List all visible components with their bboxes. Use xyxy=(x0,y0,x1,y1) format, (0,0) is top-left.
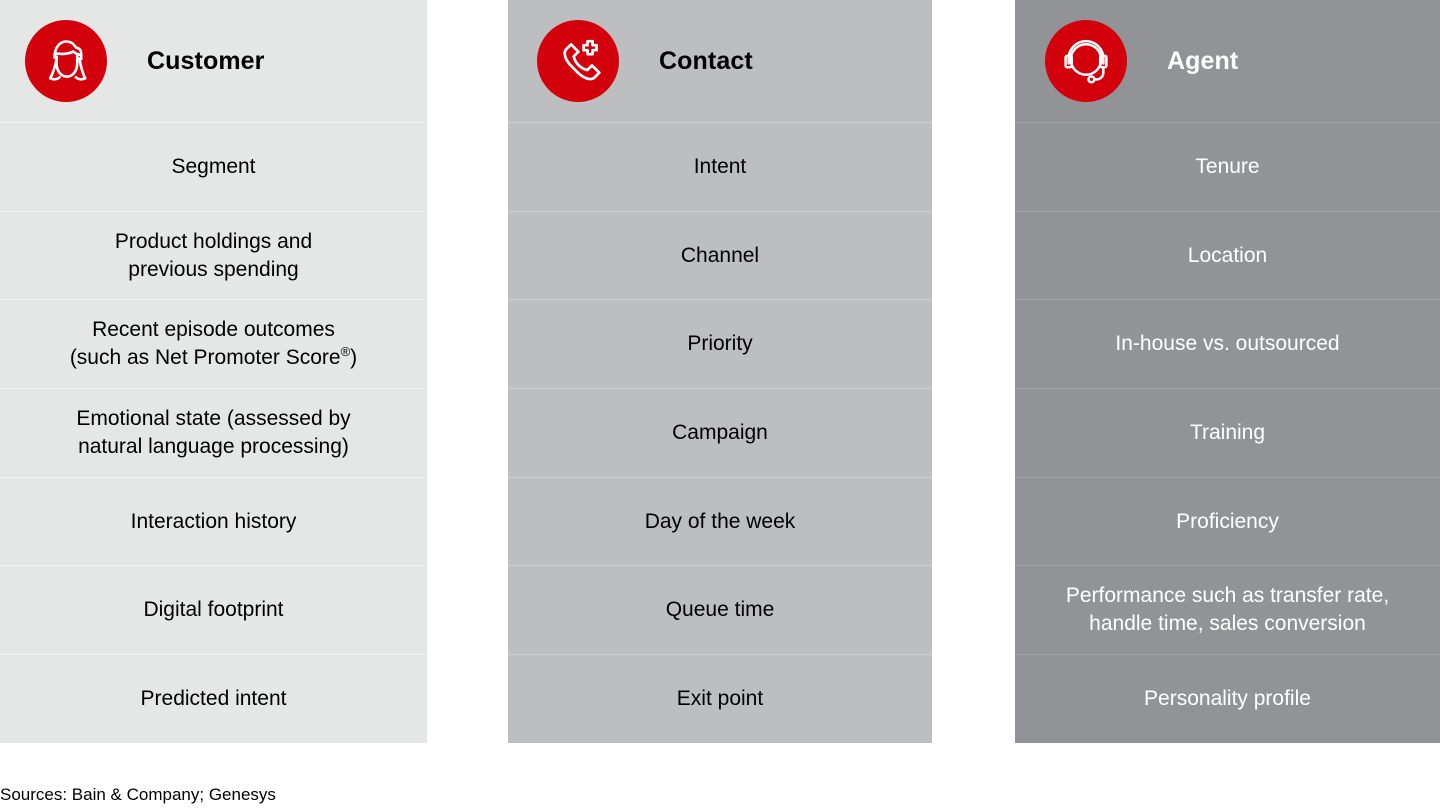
headset-icon xyxy=(1045,20,1127,102)
source-note: Sources: Bain & Company; Genesys xyxy=(0,785,276,805)
row-customer-6: Predicted intent xyxy=(0,654,427,743)
row-agent-6: Personality profile xyxy=(1015,654,1440,743)
row-label: Proficiency xyxy=(1176,508,1279,536)
column-contact: Contact Intent Channel Priority Campaign… xyxy=(508,0,932,743)
column-header-contact: Contact xyxy=(508,0,932,122)
row-label: Location xyxy=(1188,242,1267,270)
row-customer-5: Digital footprint xyxy=(0,565,427,654)
infographic-board: Customer Segment Product holdings andpre… xyxy=(0,0,1440,810)
row-contact-6: Exit point xyxy=(508,654,932,743)
row-label: Exit point xyxy=(677,685,763,713)
row-label: Performance such as transfer rate,handle… xyxy=(1066,582,1389,638)
row-agent-0: Tenure xyxy=(1015,122,1440,211)
row-label: Channel xyxy=(681,242,759,270)
column-title-contact: Contact xyxy=(659,47,753,76)
row-contact-4: Day of the week xyxy=(508,477,932,566)
row-label: Day of the week xyxy=(645,508,796,536)
row-label: Segment xyxy=(171,153,255,181)
row-label: Tenure xyxy=(1195,153,1259,181)
row-agent-4: Proficiency xyxy=(1015,477,1440,566)
row-customer-0: Segment xyxy=(0,122,427,211)
phone-plus-icon xyxy=(537,20,619,102)
row-label: In-house vs. outsourced xyxy=(1115,330,1339,358)
row-label: Interaction history xyxy=(131,508,297,536)
row-customer-2: Recent episode outcomes(such as Net Prom… xyxy=(0,299,427,388)
row-customer-4: Interaction history xyxy=(0,477,427,566)
row-label: Campaign xyxy=(672,419,768,447)
row-label: Intent xyxy=(694,153,747,181)
column-title-agent: Agent xyxy=(1167,47,1238,76)
row-contact-5: Queue time xyxy=(508,565,932,654)
row-label: Priority xyxy=(687,330,752,358)
row-label: Predicted intent xyxy=(141,685,287,713)
column-customer: Customer Segment Product holdings andpre… xyxy=(0,0,427,743)
column-title-customer: Customer xyxy=(147,47,265,76)
row-contact-3: Campaign xyxy=(508,388,932,477)
row-customer-3: Emotional state (assessed bynatural lang… xyxy=(0,388,427,477)
column-header-agent: Agent xyxy=(1015,0,1440,122)
row-label: Recent episode outcomes(such as Net Prom… xyxy=(70,316,357,372)
row-agent-3: Training xyxy=(1015,388,1440,477)
row-label: Digital footprint xyxy=(143,596,283,624)
row-contact-2: Priority xyxy=(508,299,932,388)
row-label: Queue time xyxy=(666,596,775,624)
row-label: Emotional state (assessed bynatural lang… xyxy=(76,405,350,461)
row-customer-1: Product holdings andprevious spending xyxy=(0,211,427,300)
customer-face-icon xyxy=(25,20,107,102)
row-contact-0: Intent xyxy=(508,122,932,211)
row-agent-1: Location xyxy=(1015,211,1440,300)
row-agent-5: Performance such as transfer rate,handle… xyxy=(1015,565,1440,654)
row-label: Personality profile xyxy=(1144,685,1311,713)
row-contact-1: Channel xyxy=(508,211,932,300)
row-label: Training xyxy=(1190,419,1265,447)
row-label: Product holdings andprevious spending xyxy=(115,228,312,284)
row-agent-2: In-house vs. outsourced xyxy=(1015,299,1440,388)
column-agent: Agent Tenure Location In-house vs. outso… xyxy=(1015,0,1440,743)
column-header-customer: Customer xyxy=(0,0,427,122)
